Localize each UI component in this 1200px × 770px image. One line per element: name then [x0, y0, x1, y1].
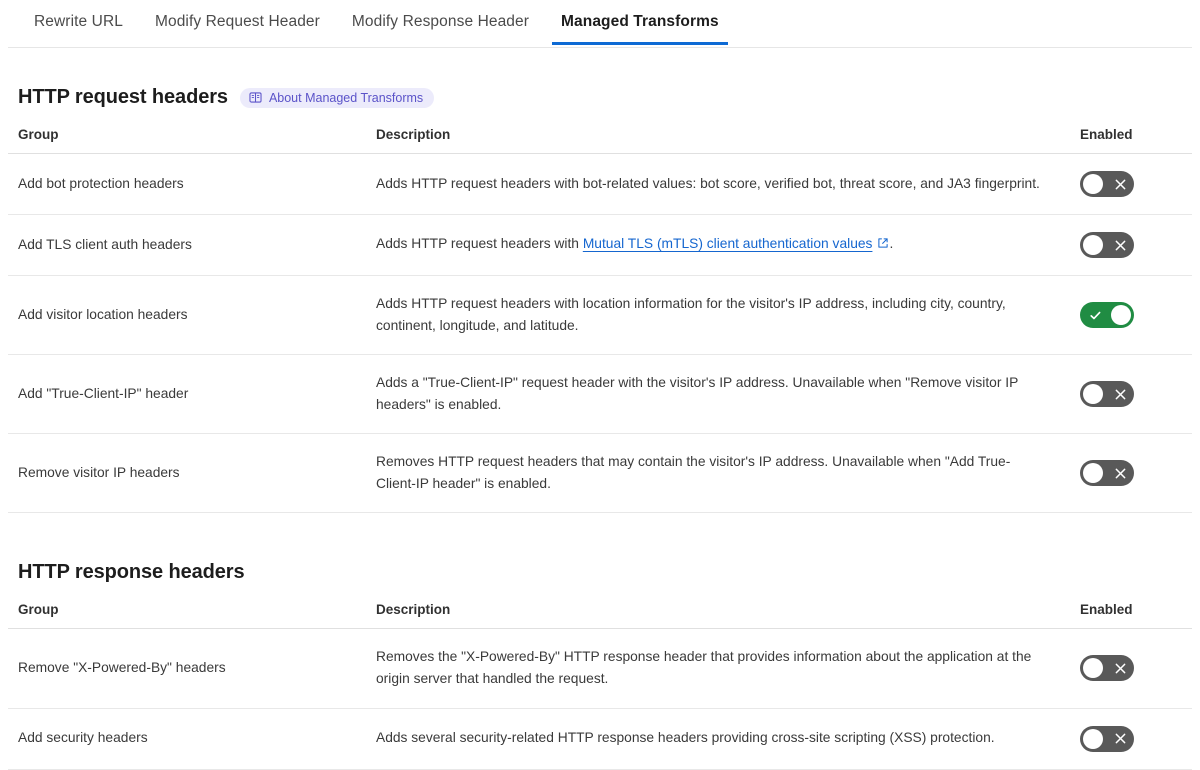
tab-rewrite-url[interactable]: Rewrite URL — [18, 0, 139, 45]
row-enabled-cell — [1070, 355, 1192, 434]
table-row: Add bot protection headers Adds HTTP req… — [8, 154, 1192, 215]
toggle-knob — [1083, 174, 1103, 194]
toggle-add-visitor-location-headers[interactable] — [1080, 302, 1134, 328]
row-group-label: Remove "X-Powered-By" headers — [8, 629, 366, 708]
close-icon — [1115, 726, 1126, 752]
row-enabled-cell — [1070, 215, 1192, 276]
description-prefix: Adds HTTP request headers with — [376, 236, 583, 251]
table-row: Remove "X-Powered-By" headers Removes th… — [8, 629, 1192, 708]
tab-managed-transforms[interactable]: Managed Transforms — [545, 0, 735, 45]
page-title: HTTP request headers — [18, 86, 228, 109]
about-managed-transforms-link[interactable]: About Managed Transforms — [240, 88, 434, 108]
table-header-row: Group Description Enabled — [8, 123, 1192, 154]
section-http-request-headers: HTTP request headers About Managed Trans… — [0, 86, 1200, 513]
table-row: Add security headers Adds several securi… — [8, 708, 1192, 769]
external-link-icon — [877, 234, 889, 256]
column-header-enabled: Enabled — [1070, 598, 1192, 629]
row-description: Adds HTTP request headers with location … — [366, 276, 1070, 355]
toggle-knob — [1083, 384, 1103, 404]
check-icon — [1089, 302, 1102, 328]
managed-transforms-request-table: Group Description Enabled Add bot protec… — [8, 123, 1192, 513]
row-group-label: Add TLS client auth headers — [8, 215, 366, 276]
row-description: Adds several security-related HTTP respo… — [366, 708, 1070, 769]
close-icon — [1115, 655, 1126, 681]
column-header-description: Description — [366, 598, 1070, 629]
toggle-add-bot-protection-headers[interactable] — [1080, 171, 1134, 197]
toggle-add-security-headers[interactable] — [1080, 726, 1134, 752]
row-group-label: Add "True-Client-IP" header — [8, 355, 366, 434]
table-row: Remove visitor IP headers Removes HTTP r… — [8, 434, 1192, 513]
tab-modify-request-header[interactable]: Modify Request Header — [139, 0, 336, 45]
row-description: Adds a "True-Client-IP" request header w… — [366, 355, 1070, 434]
section-header: HTTP request headers About Managed Trans… — [8, 86, 1192, 109]
row-enabled-cell — [1070, 434, 1192, 513]
row-group-label: Remove visitor IP headers — [8, 434, 366, 513]
toggle-add-tls-client-auth-headers[interactable] — [1080, 232, 1134, 258]
page-title-response: HTTP response headers — [18, 561, 245, 584]
tab-modify-response-header[interactable]: Modify Response Header — [336, 0, 545, 45]
row-description: Adds HTTP request headers with bot-relat… — [366, 154, 1070, 215]
close-icon — [1115, 232, 1126, 258]
close-icon — [1115, 381, 1126, 407]
toggle-knob — [1111, 305, 1131, 325]
managed-transforms-response-table: Group Description Enabled Remove "X-Powe… — [8, 598, 1192, 769]
row-enabled-cell — [1070, 629, 1192, 708]
table-row: Add visitor location headers Adds HTTP r… — [8, 276, 1192, 355]
about-pill-label: About Managed Transforms — [269, 91, 423, 105]
toggle-remove-x-powered-by-headers[interactable] — [1080, 655, 1134, 681]
row-description: Adds HTTP request headers with Mutual TL… — [366, 215, 1070, 276]
toggle-knob — [1083, 235, 1103, 255]
toggle-knob — [1083, 658, 1103, 678]
column-header-description: Description — [366, 123, 1070, 154]
row-group-label: Add bot protection headers — [8, 154, 366, 215]
book-icon — [249, 91, 262, 104]
mutual-tls-link[interactable]: Mutual TLS (mTLS) client authentication … — [583, 236, 873, 251]
toggle-knob — [1083, 463, 1103, 483]
toggle-remove-visitor-ip-headers[interactable] — [1080, 460, 1134, 486]
toggle-add-true-client-ip-header[interactable] — [1080, 381, 1134, 407]
description-suffix: . — [889, 236, 893, 251]
section-http-response-headers: HTTP response headers Group Description … — [0, 561, 1200, 769]
column-header-group: Group — [8, 123, 366, 154]
row-group-label: Add security headers — [8, 708, 366, 769]
toggle-knob — [1083, 729, 1103, 749]
column-header-enabled: Enabled — [1070, 123, 1192, 154]
row-enabled-cell — [1070, 708, 1192, 769]
column-header-group: Group — [8, 598, 366, 629]
section-header: HTTP response headers — [8, 561, 1192, 584]
close-icon — [1115, 460, 1126, 486]
row-group-label: Add visitor location headers — [8, 276, 366, 355]
table-row: Add TLS client auth headers Adds HTTP re… — [8, 215, 1192, 276]
row-description: Removes HTTP request headers that may co… — [366, 434, 1070, 513]
tab-bar: Rewrite URL Modify Request Header Modify… — [0, 0, 1200, 48]
row-enabled-cell — [1070, 154, 1192, 215]
row-enabled-cell — [1070, 276, 1192, 355]
row-description: Removes the "X-Powered-By" HTTP response… — [366, 629, 1070, 708]
table-row: Add "True-Client-IP" header Adds a "True… — [8, 355, 1192, 434]
table-header-row: Group Description Enabled — [8, 598, 1192, 629]
close-icon — [1115, 171, 1126, 197]
